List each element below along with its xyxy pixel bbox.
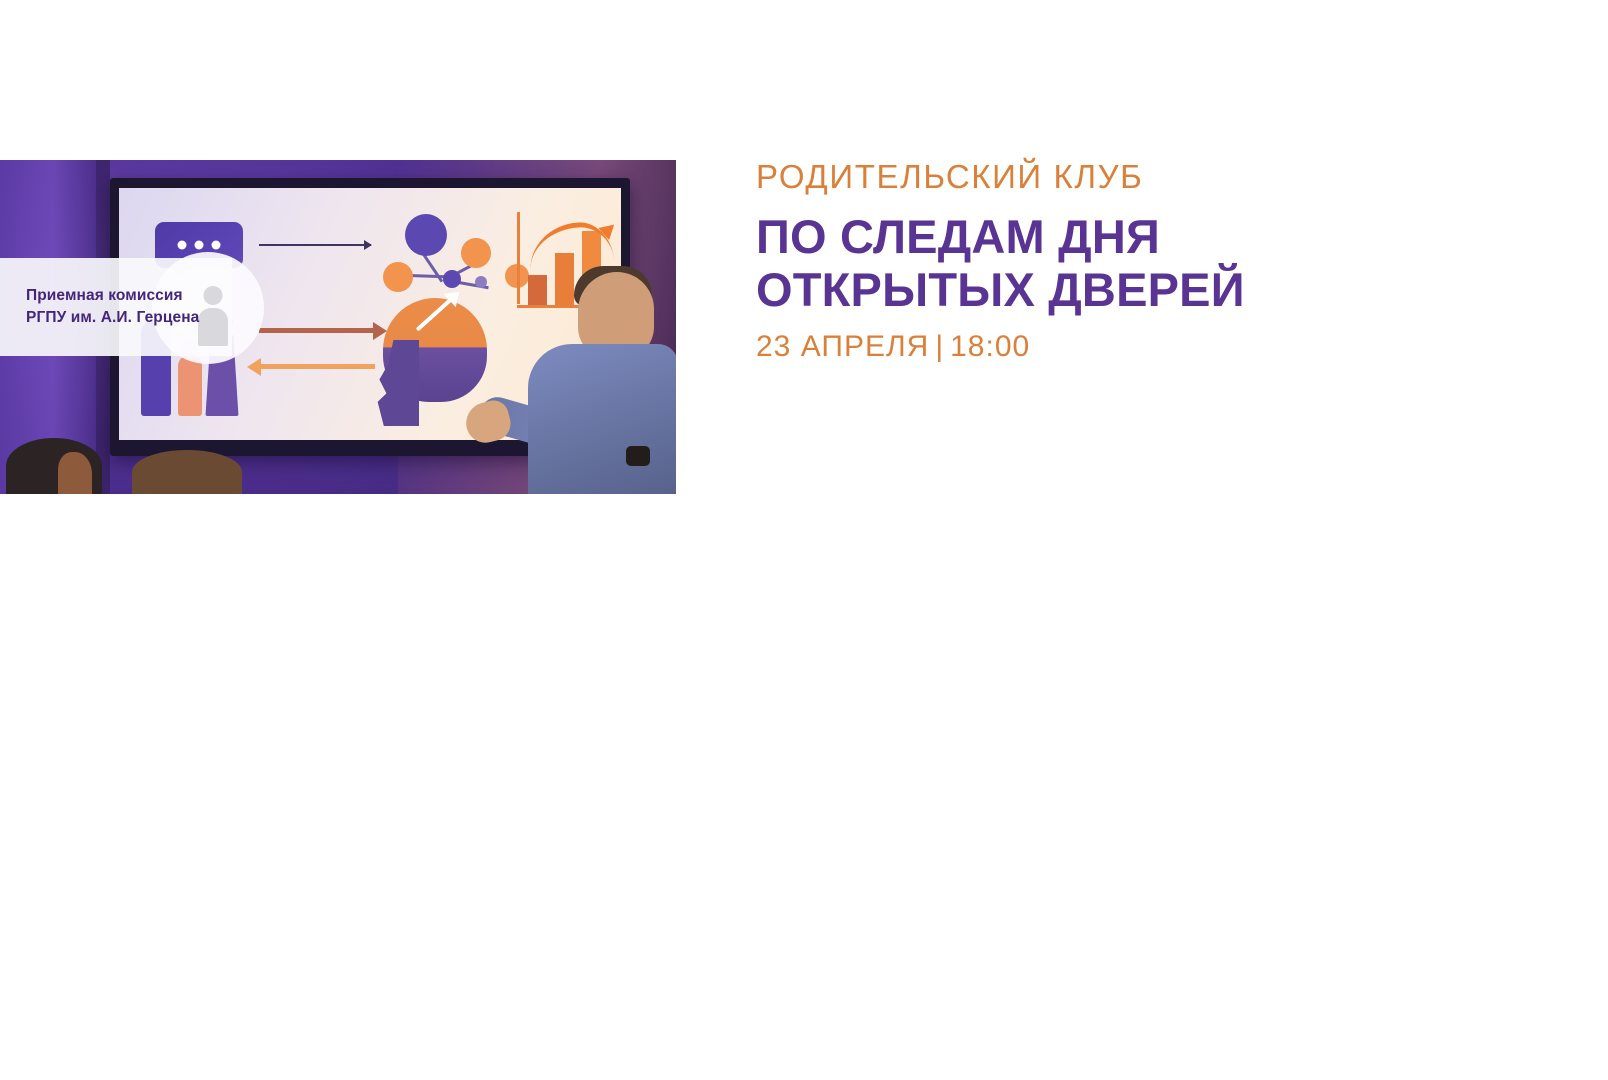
badge-line-1: Приемная комиссия (26, 285, 199, 307)
admissions-office-badge: Приемная комиссия РГПУ им. А.И. Герцена (0, 258, 265, 356)
arrow-right-icon (259, 244, 371, 246)
badge-text: Приемная комиссия РГПУ им. А.И. Герцена (0, 285, 199, 329)
event-datetime: 23 АПРЕЛЯ|18:00 (756, 332, 1356, 362)
page-title: ПО СЛЕДАМ ДНЯ ОТКРЫТЫХ ДВЕРЕЙ (756, 211, 1356, 316)
person-avatar-icon (196, 286, 230, 346)
node-orange-left (383, 262, 413, 292)
node-orange-mid (461, 238, 491, 268)
event-time: 18:00 (950, 330, 1030, 363)
presenter-person (488, 194, 678, 494)
datetime-separator: | (929, 330, 950, 363)
audience-head (6, 438, 102, 494)
arrow-right-icon (259, 328, 375, 333)
audience-head (132, 450, 242, 494)
badge-line-2: РГПУ им. А.И. Герцена (26, 307, 199, 329)
event-date: 23 АПРЕЛЯ (756, 330, 929, 363)
headline-line-1: ПО СЛЕДАМ ДНЯ (756, 211, 1356, 264)
event-banner: Приемная комиссия РГПУ им. А.И. Герцена … (0, 160, 1608, 494)
presenter-watch (626, 446, 650, 466)
event-photo: Приемная комиссия РГПУ им. А.И. Герцена (0, 160, 678, 494)
presenter-shirt (528, 344, 678, 494)
headline-line-2: ОТКРЫТЫХ ДВЕРЕЙ (756, 264, 1356, 317)
head-profile (375, 340, 419, 426)
arrow-left-icon (259, 364, 375, 369)
node-tiny-purple (475, 276, 487, 288)
event-copy: РОДИТЕЛЬСКИЙ КЛУБ ПО СЛЕДАМ ДНЯ ОТКРЫТЫХ… (756, 160, 1356, 362)
speech-bubble-dots (178, 241, 221, 250)
event-eyebrow: РОДИТЕЛЬСКИЙ КЛУБ (756, 160, 1356, 193)
photo-edge (676, 160, 678, 494)
node-large-purple (405, 214, 447, 256)
